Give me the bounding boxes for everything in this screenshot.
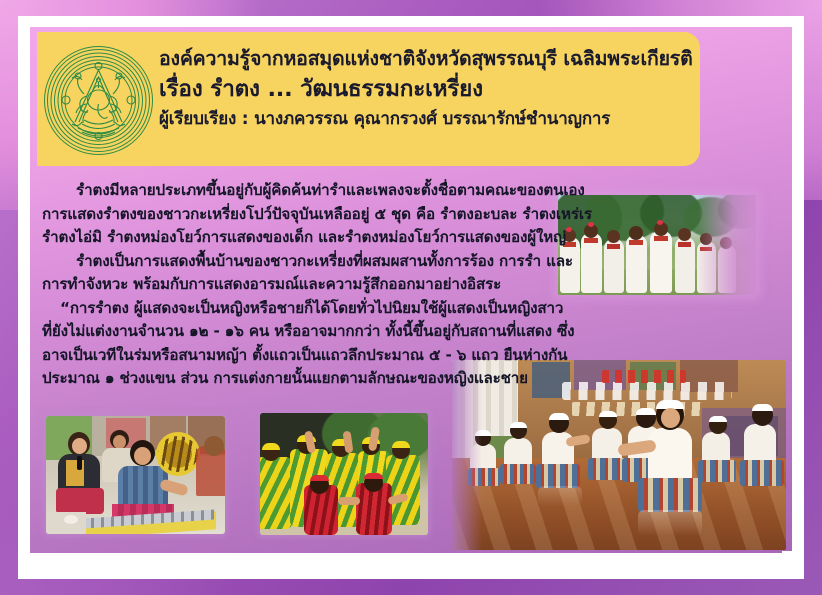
poster-title-line-1: องค์ความรู้จากหอสมุดแห่งชาติจังหวัดสุพรร… [159,46,697,73]
photo-dancers-yellow [260,413,428,535]
text-line: การทำจังหวะ พร้อมกับการแสดงอารมณ์และความ… [42,273,587,297]
poster-title-line-2: เรื่อง รำตง ... วัฒนธรรมกะเหรี่ยง [159,73,697,106]
text-line: การแสดงรำตงของชาวกะเหรี่ยงโปว์ปัจจุบันเห… [42,203,587,227]
poster-root: องค์ความรู้จากหอสมุดแห่งชาติจังหวัดสุพรร… [0,0,822,595]
body-text-block: รำตงมีหลายประเภทขึ้นอยู่กับผู้คิดค้นท่าร… [42,179,587,391]
poster-author-line: ผู้เรียบเรียง : นางภควรรณ คุณากรวงศ์ บรร… [159,106,697,132]
text-line: “การรำตง ผู้แสดงจะเป็นหญิงหรือชายก็ได้โด… [42,297,587,321]
paragraph-2: รำตงเป็นการแสดงพื้นบ้านของชาวกะเหรี่ยงที… [42,250,587,297]
text-line: รำตงไอ่มิ รำตงหม่องโยว์การแสดงของเด็ก แล… [42,226,587,250]
text-line: รำตงมีหลายประเภทขึ้นอยู่กับผู้คิดค้นท่าร… [42,179,587,203]
ganesha-seal-icon [42,44,155,157]
text-line: รำตงเป็นการแสดงพื้นบ้านของชาวกะเหรี่ยงที… [42,250,587,274]
photo-musicians [46,416,225,534]
paragraph-1: รำตงมีหลายประเภทขึ้นอยู่กับผู้คิดค้นท่าร… [42,179,587,250]
header-text-block: องค์ความรู้จากหอสมุดแห่งชาติจังหวัดสุพรร… [159,46,697,132]
poster-content-panel: องค์ความรู้จากหอสมุดแห่งชาติจังหวัดสุพรร… [30,27,792,553]
text-line: ที่ยังไม่แต่งงานจำนวน ๑๒ - ๑๖ คน หรืออาจ… [42,320,587,344]
header-banner: องค์ความรู้จากหอสมุดแห่งชาติจังหวัดสุพรร… [37,32,700,166]
text-line: อาจเป็นเวทีในร่มหรือสนามหญ้า ตั้งแถวเป็น… [42,344,587,368]
paragraph-3: “การรำตง ผู้แสดงจะเป็นหญิงหรือชายก็ได้โด… [42,297,587,391]
text-line: ประมาณ ๑ ช่วงแขน ส่วน การแต่งกายนั้นแยกต… [42,367,587,391]
qr-code-facebook[interactable] [782,551,792,553]
